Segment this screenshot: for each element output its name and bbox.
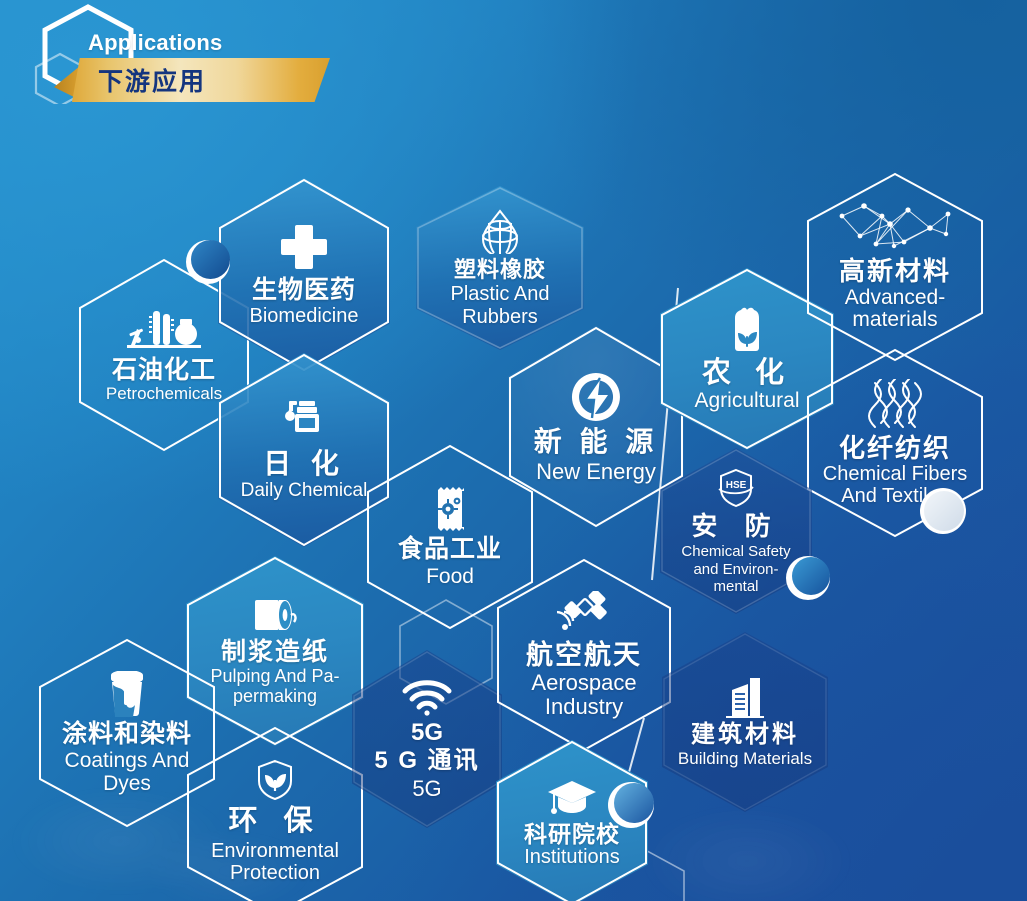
graduation-cap-icon <box>547 778 597 818</box>
buildings-icon <box>724 676 766 718</box>
tile-5g[interactable]: 5G 5 G 通讯 5G <box>352 650 502 828</box>
svg-text:HSE: HSE <box>726 480 747 491</box>
tile-title-cn: 制浆造纸 <box>221 639 329 666</box>
tile-title-en: 5G <box>412 777 441 800</box>
medical-cross-icon <box>279 223 329 273</box>
tile-title-en: Plastic And Rubbers <box>435 283 565 328</box>
tile-title-cn: 建筑材料 <box>691 722 799 747</box>
tile-title-cn: 食品工业 <box>398 536 502 563</box>
decorative-circle <box>920 488 966 534</box>
tile-plastic-rubbers[interactable]: 塑料橡胶 Plastic And Rubbers <box>416 186 584 350</box>
paint-bucket-icon <box>104 671 150 717</box>
tile-title-cn: 安 防 <box>691 513 780 541</box>
tile-building-materials[interactable]: 建筑材料 Building Materials <box>662 632 828 812</box>
tile-title-en: Agricultural <box>694 390 799 412</box>
molecule-network-icon <box>834 202 956 254</box>
tile-title-en: Biomedicine <box>250 306 359 327</box>
decorative-circle <box>608 782 654 828</box>
tile-title-cn: 科研院校 <box>524 822 620 846</box>
tile-title-en: Institutions <box>524 847 620 868</box>
tile-biomedicine[interactable]: 生物医药 Biomedicine <box>218 178 390 372</box>
tile-new-energy[interactable]: 新 能 源 New Energy <box>508 326 684 528</box>
tile-title-en: Chemical Safety and Environ-mental <box>677 543 795 595</box>
tile-title-cn: 新 能 源 <box>534 427 659 457</box>
tile-title-cn: 生物医药 <box>252 277 356 304</box>
fertilizer-bag-icon <box>726 306 768 354</box>
application-hex-grid: 石油化工 Petrochemicals 生物医药 Biomedicine <box>0 0 1027 901</box>
tile-title-cn: 环 保 <box>228 806 321 837</box>
tile-title-cn: 高新材料 <box>839 258 951 286</box>
tile-title-cn: 5 G 通讯 <box>374 748 479 773</box>
energy-bolt-icon <box>570 371 622 423</box>
tile-title-en: Daily Chemical <box>241 481 368 501</box>
tile-environmental-protection[interactable]: 环 保 Environmental Protection <box>186 726 364 901</box>
tile-title-cn: 塑料橡胶 <box>454 258 546 281</box>
decorative-circle <box>786 556 830 600</box>
tile-title-en: Coatings And Dyes <box>57 749 197 795</box>
tile-badge-5g: 5G <box>411 720 443 745</box>
tile-title-cn: 航空航天 <box>526 641 642 670</box>
hse-shield-icon: HSE <box>716 467 756 509</box>
satellite-icon <box>557 591 611 637</box>
woven-fiber-icon <box>865 379 925 431</box>
decorative-circle <box>186 240 230 284</box>
paper-roll-icon <box>252 595 298 635</box>
tile-title-cn: 石油化工 <box>112 357 216 384</box>
lotion-bottle-icon <box>281 399 327 445</box>
tile-title-cn: 涂料和染料 <box>62 721 192 748</box>
tile-title-en: Environmental Protection <box>205 840 345 884</box>
tile-daily-chemical[interactable]: 日 化 Daily Chemical <box>218 353 390 547</box>
tile-title-en: Petrochemicals <box>106 385 222 403</box>
tile-title-en: Building Materials <box>678 750 812 768</box>
tile-title-en: Aerospace Industry <box>509 671 659 719</box>
polymer-drop-icon <box>479 208 521 254</box>
oil-refinery-icon <box>127 307 201 353</box>
tile-advanced-materials[interactable]: 高新材料 Advanced-materials <box>806 172 984 362</box>
tile-title-cn: 农 化 <box>702 358 792 389</box>
tile-title-en: Food <box>426 566 474 588</box>
tile-title-en: Pulping And Pa-permaking <box>208 667 342 707</box>
tile-title-cn: 日 化 <box>263 449 345 479</box>
tile-title-cn: 化纤纺织 <box>839 435 951 463</box>
tile-title-en: New Energy <box>536 460 656 483</box>
eco-shield-icon <box>254 758 296 802</box>
wifi-signal-icon <box>401 678 453 716</box>
food-packet-icon <box>430 486 470 532</box>
tile-title-en: Advanced-materials <box>825 287 965 332</box>
